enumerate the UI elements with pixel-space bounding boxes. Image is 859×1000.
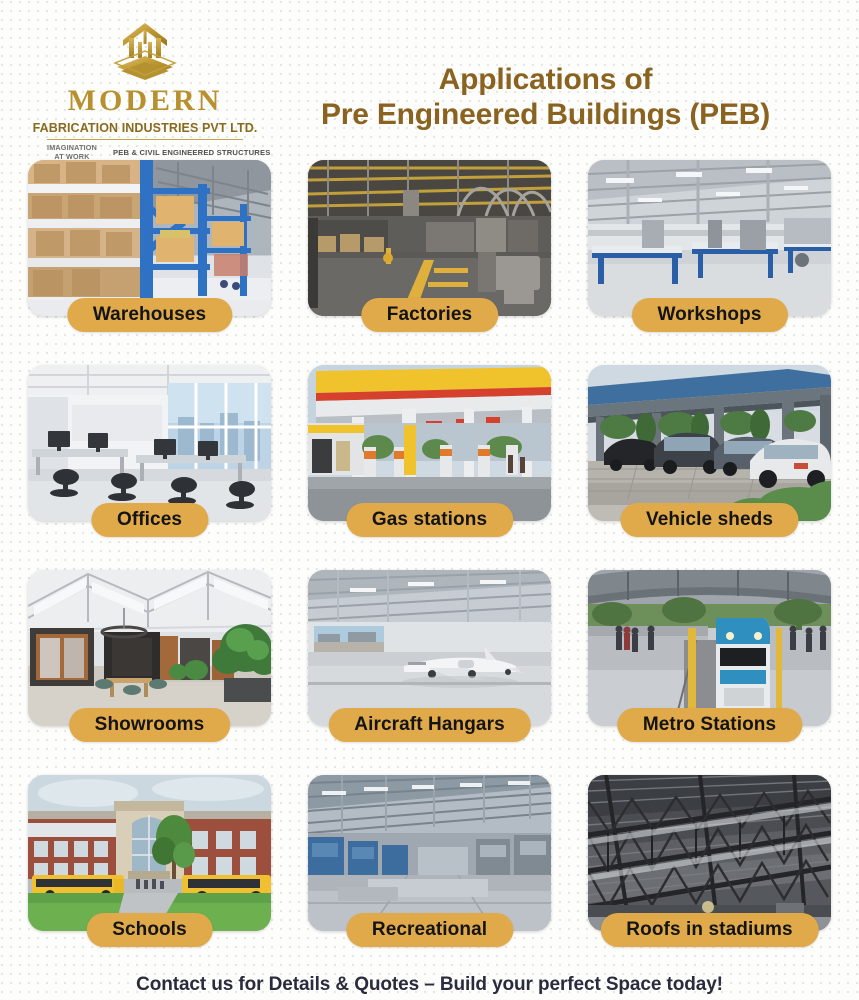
workshop-interior-photo bbox=[588, 160, 831, 316]
brand-name: MODERN bbox=[68, 86, 223, 116]
applications-grid: Warehouses bbox=[0, 160, 859, 963]
metro-station-platform-photo bbox=[588, 570, 831, 726]
warehouse-racking-photo bbox=[28, 160, 271, 316]
recreational-hall-photo bbox=[308, 775, 551, 931]
card-gas-stations[interactable]: Gas stations bbox=[300, 365, 559, 553]
card-label[interactable]: Aircraft Hangars bbox=[328, 708, 530, 742]
card-warehouses[interactable]: Warehouses bbox=[20, 160, 279, 348]
card-metro-stations[interactable]: Metro Stations bbox=[580, 570, 839, 758]
vehicle-shed-carport-photo bbox=[588, 365, 831, 521]
tagline-right: PEB & CIVIL ENGINEERED STRUCTURES bbox=[113, 148, 271, 157]
brand-subtitle: FABRICATION INDUSTRIES PVT LTD. bbox=[33, 121, 258, 135]
school-building-buses-photo bbox=[28, 775, 271, 931]
footer-cta-text: Contact us for Details & Quotes – Build … bbox=[0, 974, 859, 996]
aircraft-hangar-photo bbox=[308, 570, 551, 726]
page-title: Applications of Pre Engineered Buildings… bbox=[270, 14, 839, 133]
tagline-left-line1: IMAGINATION bbox=[47, 143, 97, 152]
brand-logo-block: MODERN FABRICATION INDUSTRIES PVT LTD. I… bbox=[20, 14, 270, 161]
poster-canvas: MODERN FABRICATION INDUSTRIES PVT LTD. I… bbox=[0, 0, 859, 1000]
page-title-line-1: Applications of bbox=[270, 62, 821, 97]
building-monogram-icon bbox=[109, 20, 181, 82]
card-roofs-in-stadiums[interactable]: Roofs in stadiums bbox=[580, 775, 839, 963]
card-label[interactable]: Metro Stations bbox=[617, 708, 802, 742]
card-schools[interactable]: Schools bbox=[20, 775, 279, 963]
footer: Contact us for Details & Quotes – Build … bbox=[0, 974, 859, 996]
card-aircraft-hangars[interactable]: Aircraft Hangars bbox=[300, 570, 559, 758]
stadium-roof-truss-photo bbox=[588, 775, 831, 931]
card-label[interactable]: Gas stations bbox=[346, 503, 513, 537]
card-vehicle-sheds[interactable]: Vehicle sheds bbox=[580, 365, 839, 553]
card-label[interactable]: Vehicle sheds bbox=[620, 503, 799, 537]
card-label[interactable]: Factories bbox=[361, 298, 498, 332]
card-label[interactable]: Offices bbox=[91, 503, 208, 537]
gas-station-canopy-photo bbox=[308, 365, 551, 521]
page-title-line-2: Pre Engineered Buildings (PEB) bbox=[270, 97, 821, 132]
showroom-interior-photo bbox=[28, 570, 271, 726]
tagline-left: IMAGINATION AT WORK bbox=[47, 143, 97, 161]
card-label[interactable]: Roofs in stadiums bbox=[600, 913, 818, 947]
brand-taglines: IMAGINATION AT WORK PEB & CIVIL ENGINEER… bbox=[47, 143, 243, 161]
card-label[interactable]: Warehouses bbox=[67, 298, 232, 332]
card-showrooms[interactable]: Showrooms bbox=[20, 570, 279, 758]
office-workspace-photo bbox=[28, 365, 271, 521]
card-label[interactable]: Schools bbox=[86, 913, 213, 947]
header: MODERN FABRICATION INDUSTRIES PVT LTD. I… bbox=[0, 0, 859, 160]
factory-interior-photo bbox=[308, 160, 551, 316]
card-offices[interactable]: Offices bbox=[20, 365, 279, 553]
card-recreational[interactable]: Recreational bbox=[300, 775, 559, 963]
card-workshops[interactable]: Workshops bbox=[580, 160, 839, 348]
card-factories[interactable]: Factories bbox=[300, 160, 559, 348]
card-label[interactable]: Workshops bbox=[631, 298, 787, 332]
card-label[interactable]: Showrooms bbox=[69, 708, 231, 742]
brand-divider bbox=[47, 139, 243, 140]
card-label[interactable]: Recreational bbox=[346, 913, 513, 947]
